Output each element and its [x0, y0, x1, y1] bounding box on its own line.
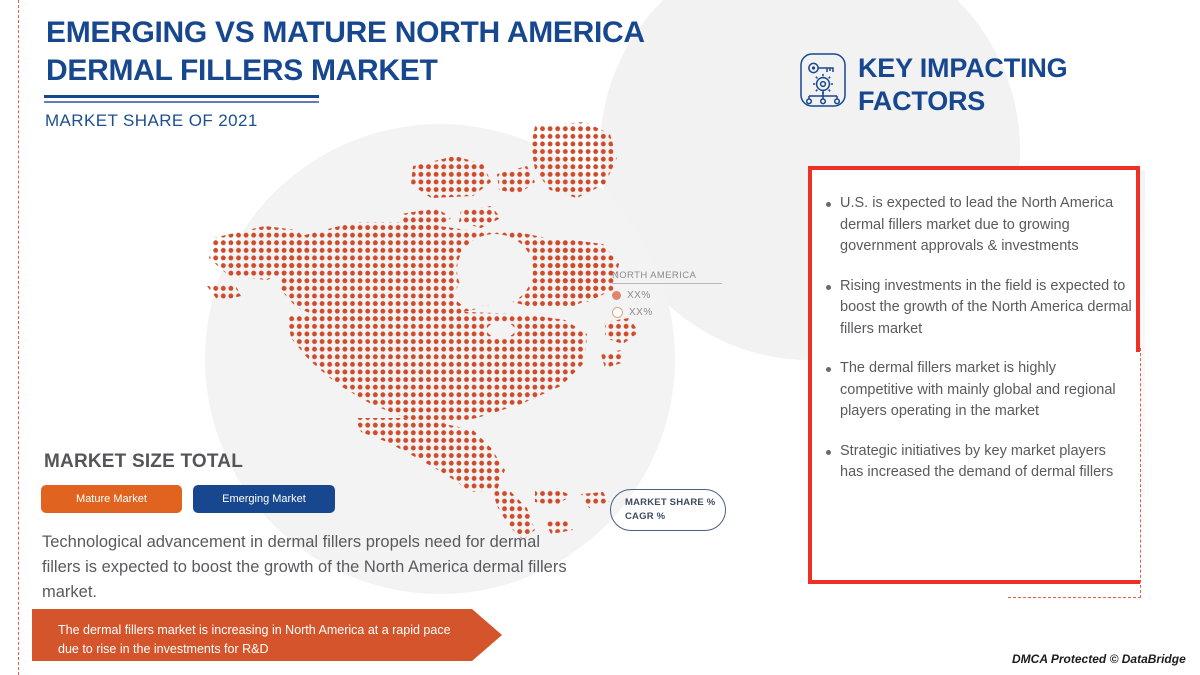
highlight-banner: The dermal fillers market is increasing … — [32, 609, 502, 661]
legend-value: XX% — [627, 290, 651, 301]
highlight-banner-text: The dermal fillers market is increasing … — [58, 621, 458, 659]
key-factors-list: U.S. is expected to lead the North Ameri… — [826, 193, 1132, 502]
key-factors-title: KEY IMPACTING FACTORS — [858, 52, 1158, 118]
market-size-title: MARKET SIZE TOTAL — [44, 451, 243, 473]
list-item: The dermal fillers market is highly comp… — [826, 358, 1132, 423]
bullet-icon — [826, 285, 831, 290]
market-size-legend: Mature Market Emerging Market — [41, 485, 335, 513]
legend-value: XX% — [629, 307, 653, 318]
list-item-text: The dermal fillers market is highly comp… — [840, 358, 1132, 423]
north-america-dot-map — [205, 118, 685, 598]
list-item-text: Strategic initiatives by key market play… — [840, 441, 1132, 484]
title-rule-thick — [44, 95, 319, 98]
dashed-frame-right — [1140, 348, 1141, 598]
list-item: U.S. is expected to lead the North Ameri… — [826, 193, 1132, 258]
legend-marker-mature-icon — [612, 291, 621, 300]
cagr-label: CAGR % — [625, 510, 725, 524]
list-item-text: U.S. is expected to lead the North Ameri… — [840, 193, 1132, 258]
list-item: Rising investments in the field is expec… — [826, 276, 1132, 341]
dashed-frame-left — [18, 0, 19, 675]
legend-marker-emerging-icon — [612, 307, 623, 318]
legend-pill-mature-market[interactable]: Mature Market — [41, 485, 182, 513]
legend-row: XX% — [612, 307, 722, 318]
bullet-icon — [826, 450, 831, 455]
list-item-text: Rising investments in the field is expec… — [840, 276, 1132, 341]
market-share-cagr-pill: MARKET SHARE % CAGR % — [610, 489, 726, 531]
title-rule-thin — [44, 101, 319, 103]
map-legend: NORTH AMERICA XX% XX% — [612, 270, 722, 318]
bullet-icon — [826, 202, 831, 207]
key-factors-box-right-border — [1136, 166, 1140, 352]
body-paragraph: Technological advancement in dermal fill… — [42, 530, 582, 605]
infographic-page: EMERGING VS MATURE NORTH AMERICA DERMAL … — [0, 0, 1200, 675]
dashed-frame-bottom-right — [1008, 597, 1141, 598]
footer-attribution: DMCA Protected © DataBridge — [1012, 652, 1186, 666]
bullet-icon — [826, 367, 831, 372]
list-item: Strategic initiatives by key market play… — [826, 441, 1132, 484]
key-gear-network-icon — [799, 52, 847, 108]
legend-region-label: NORTH AMERICA — [612, 270, 722, 284]
legend-pill-emerging-market[interactable]: Emerging Market — [193, 485, 335, 513]
market-share-label: MARKET SHARE % — [625, 496, 725, 510]
legend-row: XX% — [612, 290, 722, 301]
page-title: EMERGING VS MATURE NORTH AMERICA DERMAL … — [46, 14, 726, 90]
